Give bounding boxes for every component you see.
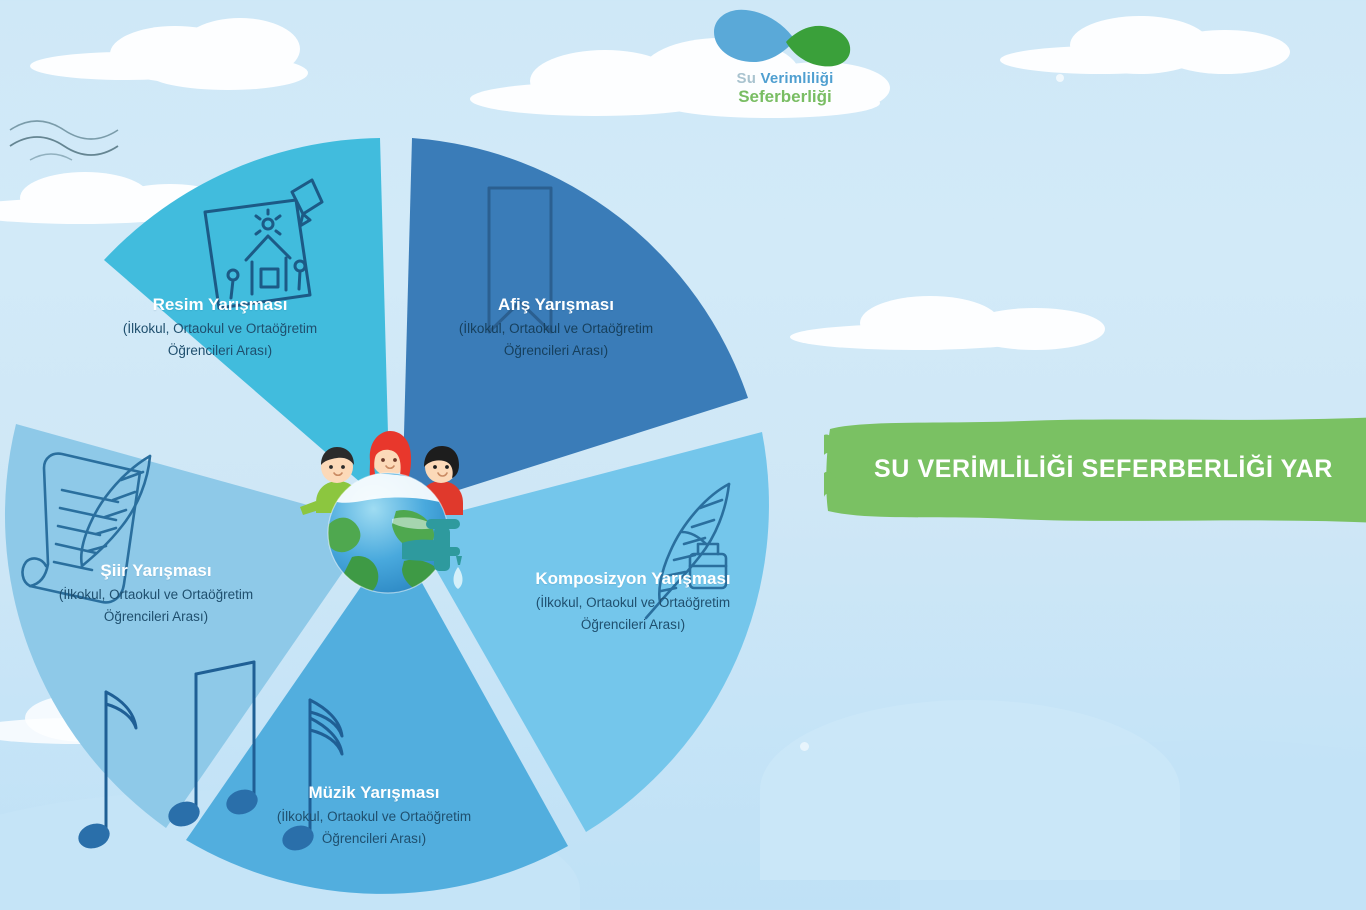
brand-logo: Su Verimliliği Seferberliği <box>700 4 870 107</box>
logo-line-1: Su Verimliliği <box>700 70 870 87</box>
cloud-right-mid <box>790 290 1120 350</box>
logo-drops <box>700 4 870 70</box>
centre-illustration <box>292 415 488 611</box>
background-hill-right <box>900 740 1366 910</box>
logo-word-su: Su <box>737 70 761 87</box>
background-hill-mid <box>760 700 1180 880</box>
banner-title: SU VERİMLİLİĞİ SEFERBERLİĞİ YAR <box>874 455 1333 484</box>
campaign-banner: SU VERİMLİLİĞİ SEFERBERLİĞİ YAR <box>824 411 1366 529</box>
sparkle-right <box>1056 74 1064 82</box>
sparkle-centre <box>800 742 809 751</box>
cloud-top-right <box>1000 10 1300 74</box>
cloud-top-left <box>30 18 330 78</box>
water-drop-pair-icon <box>700 4 870 70</box>
logo-line-2: Seferberliği <box>700 87 870 107</box>
globe-with-tap-and-children-icon <box>292 415 488 611</box>
logo-word-verimliligi: Verimliliği <box>760 70 833 87</box>
